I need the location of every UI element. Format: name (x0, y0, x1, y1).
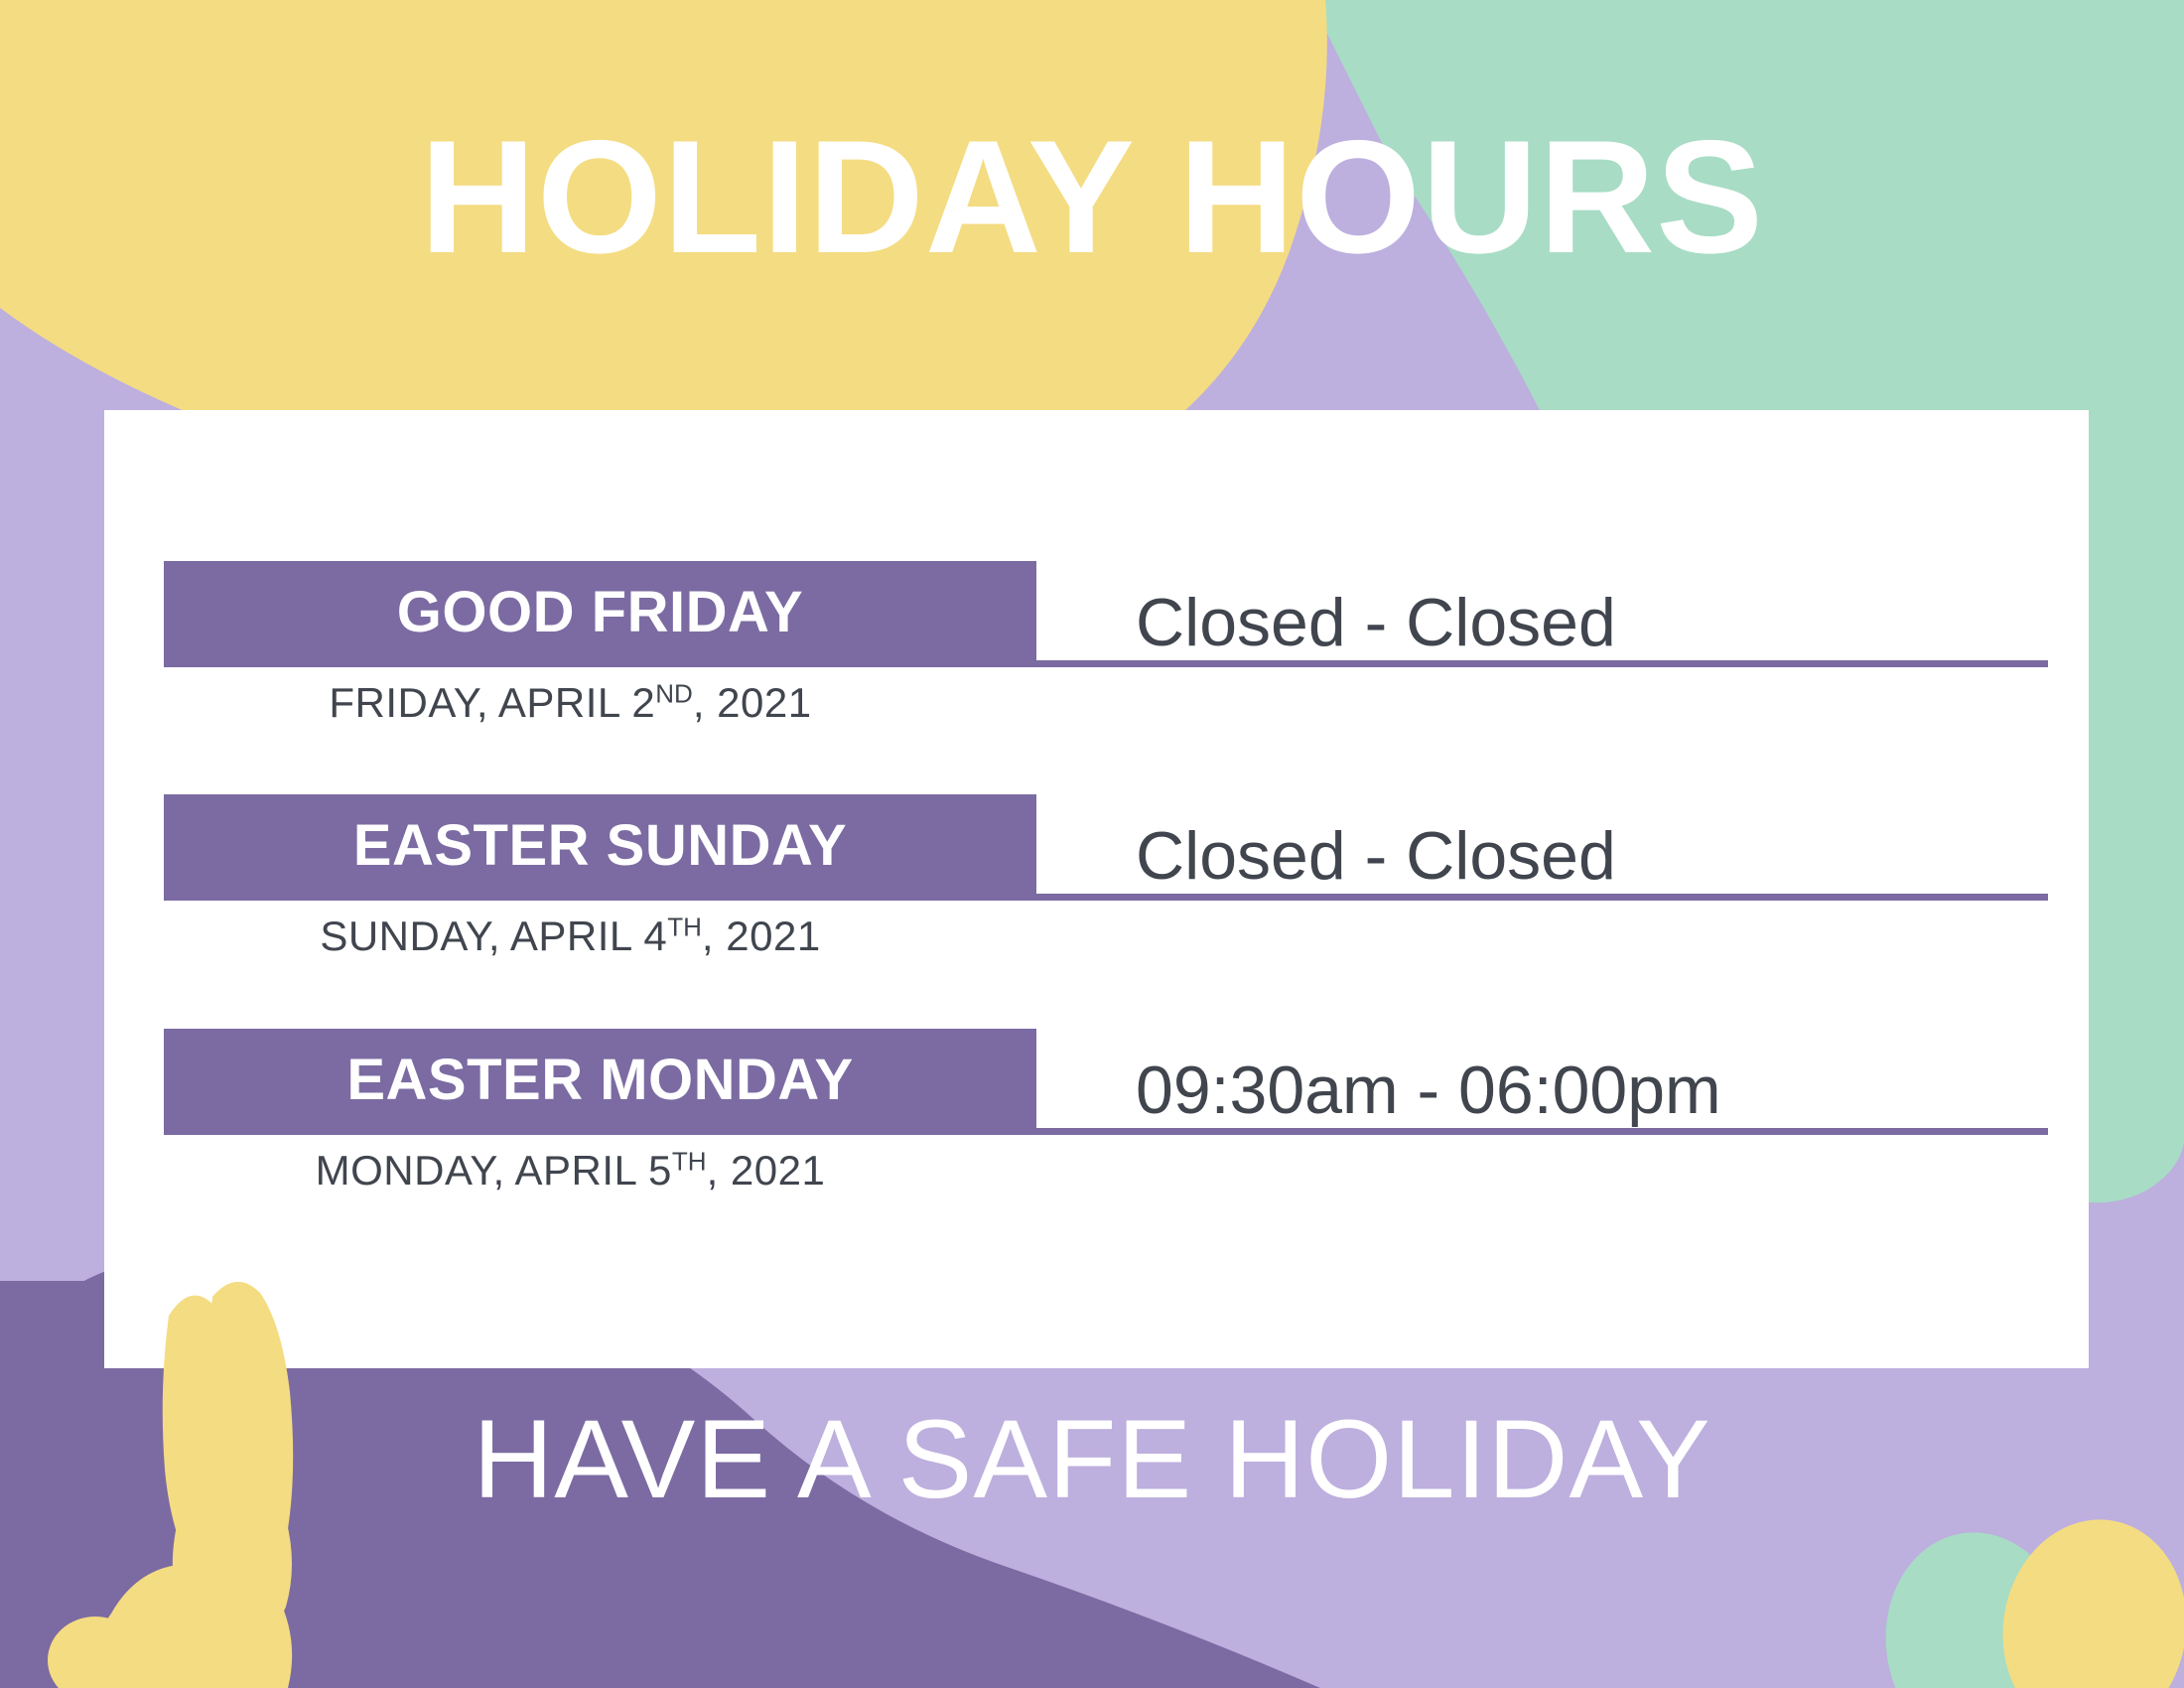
holiday-row-main: EASTER MONDAY 09:30am - 06:00pm (104, 1029, 2089, 1135)
holiday-row: GOOD FRIDAY Closed - Closed FRIDAY, APRI… (104, 561, 2089, 727)
holiday-date-wrap: MONDAY, APRIL 5TH, 2021 (104, 1147, 1036, 1195)
holiday-date: SUNDAY, APRIL 4TH, 2021 (320, 913, 820, 959)
holiday-hours-cell: Closed - Closed (1036, 794, 2048, 901)
holiday-hours: Closed - Closed (1136, 589, 1616, 656)
holiday-row-main: EASTER SUNDAY Closed - Closed (104, 794, 2089, 901)
holiday-date-suffix: , 2021 (693, 679, 812, 726)
holiday-name: GOOD FRIDAY (397, 584, 803, 641)
holiday-date-suffix: , 2021 (702, 913, 821, 959)
holiday-name: EASTER MONDAY (346, 1052, 853, 1109)
holiday-date-wrap: FRIDAY, APRIL 2ND, 2021 (104, 679, 1036, 727)
holiday-date-prefix: FRIDAY, APRIL 2 (329, 679, 655, 726)
holiday-row-main: GOOD FRIDAY Closed - Closed (104, 561, 2089, 667)
holiday-hours: Closed - Closed (1136, 822, 1616, 890)
holiday-label-bar: EASTER SUNDAY (164, 794, 1036, 901)
holiday-date: FRIDAY, APRIL 2ND, 2021 (329, 679, 811, 726)
holiday-date-wrap: SUNDAY, APRIL 4TH, 2021 (104, 913, 1036, 960)
holiday-hours-cell: 09:30am - 06:00pm (1036, 1029, 2048, 1135)
holiday-name: EASTER SUNDAY (353, 817, 847, 875)
holiday-hours-cell: Closed - Closed (1036, 561, 2048, 667)
holiday-hours: 09:30am - 06:00pm (1136, 1056, 1721, 1124)
hours-card: GOOD FRIDAY Closed - Closed FRIDAY, APRI… (104, 410, 2089, 1368)
holiday-date-ordinal: TH (672, 1147, 707, 1177)
holiday-date-ordinal: TH (667, 913, 702, 942)
holiday-date-prefix: MONDAY, APRIL 5 (316, 1147, 672, 1194)
footer-message: HAVE A SAFE HOLIDAY (0, 1404, 2184, 1515)
page-title: HOLIDAY HOURS (0, 117, 2184, 278)
holiday-row: EASTER SUNDAY Closed - Closed SUNDAY, AP… (104, 794, 2089, 960)
holiday-label-bar: EASTER MONDAY (164, 1029, 1036, 1135)
holiday-date-suffix: , 2021 (707, 1147, 826, 1194)
holiday-label-bar: GOOD FRIDAY (164, 561, 1036, 667)
holiday-date: MONDAY, APRIL 5TH, 2021 (316, 1147, 826, 1194)
hours-list: GOOD FRIDAY Closed - Closed FRIDAY, APRI… (104, 410, 2089, 1368)
holiday-row: EASTER MONDAY 09:30am - 06:00pm MONDAY, … (104, 1029, 2089, 1195)
holiday-date-prefix: SUNDAY, APRIL 4 (320, 913, 667, 959)
holiday-hours-poster: HOLIDAY HOURS GOOD FRIDAY Closed - Close… (0, 0, 2184, 1688)
holiday-date-ordinal: ND (655, 679, 693, 709)
